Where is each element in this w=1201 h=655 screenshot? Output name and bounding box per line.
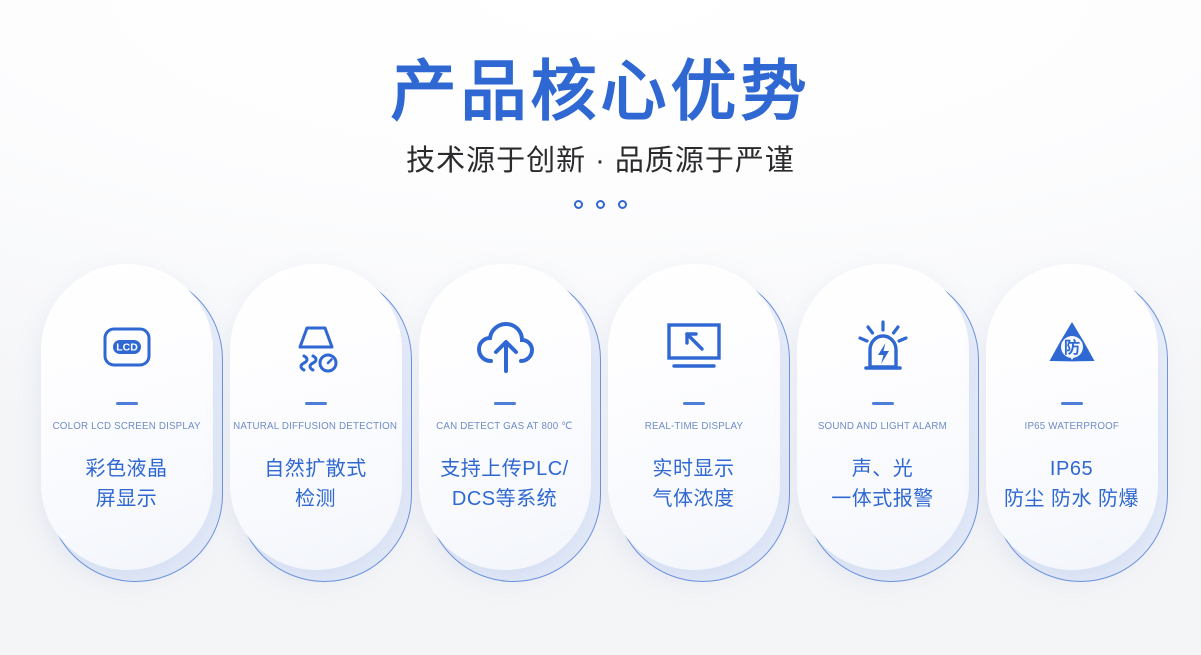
dot-1 — [574, 200, 583, 209]
card-divider — [872, 402, 894, 405]
card-body: LCD COLOR LCD SCREEN DISPLAY 彩色液晶 屏显示 — [41, 264, 213, 570]
page-subtitle: 技术源于创新 · 品质源于严谨 — [0, 127, 1201, 178]
page-root: 产品核心优势 技术源于创新 · 品质源于严谨 LCD COLOR LC — [0, 0, 1201, 655]
card-title-line2: 屏显示 — [86, 484, 168, 514]
feature-card[interactable]: CAN DETECT GAS AT 800 ℃ 支持上传PLC/ DCS等系统 — [419, 264, 594, 576]
lcd-badge-icon: LCD — [99, 316, 155, 378]
card-caption: IP65 WATERPROOF — [1024, 420, 1118, 432]
card-title-line1: 声、光 — [831, 454, 934, 484]
feature-card[interactable]: 防 IP65 WATERPROOF IP65 防尘 防水 防爆 — [986, 264, 1161, 576]
card-caption: REAL-TIME DISPLAY — [644, 420, 742, 432]
card-body: 防 IP65 WATERPROOF IP65 防尘 防水 防爆 — [986, 264, 1158, 570]
card-divider — [116, 402, 138, 405]
card-divider — [305, 402, 327, 405]
card-title-line1: IP65 — [1004, 454, 1139, 484]
card-body: NATURAL DIFFUSION DETECTION 自然扩散式 检测 — [230, 264, 402, 570]
card-title: IP65 防尘 防水 防爆 — [1004, 454, 1139, 514]
card-title: 实时显示 气体浓度 — [653, 454, 735, 514]
page-header: 产品核心优势 技术源于创新 · 品质源于严谨 — [0, 0, 1201, 209]
card-caption: CAN DETECT GAS AT 800 ℃ — [436, 420, 572, 432]
card-divider — [683, 402, 705, 405]
card-body: REAL-TIME DISPLAY 实时显示 气体浓度 — [608, 264, 780, 570]
page-title: 产品核心优势 — [0, 0, 1201, 127]
svg-text:LCD: LCD — [116, 342, 138, 354]
decorative-dots — [0, 200, 1201, 209]
dot-2 — [596, 200, 605, 209]
natural-diffusion-icon — [287, 316, 345, 378]
card-title: 自然扩散式 检测 — [264, 454, 367, 514]
card-body: SOUND AND LIGHT ALARM 声、光 一体式报警 — [797, 264, 969, 570]
card-title-line1: 实时显示 — [653, 454, 735, 484]
card-title-line2: 一体式报警 — [831, 484, 934, 514]
alarm-siren-icon — [854, 316, 912, 378]
card-title-line2: DCS等系统 — [440, 484, 568, 514]
card-body: CAN DETECT GAS AT 800 ℃ 支持上传PLC/ DCS等系统 — [419, 264, 591, 570]
card-caption: SOUND AND LIGHT ALARM — [818, 420, 947, 432]
card-title-line2: 检测 — [264, 484, 367, 514]
card-title: 声、光 一体式报警 — [831, 454, 934, 514]
card-title-line1: 自然扩散式 — [264, 454, 367, 484]
feature-card-list: LCD COLOR LCD SCREEN DISPLAY 彩色液晶 屏显示 — [0, 264, 1201, 576]
card-title: 支持上传PLC/ DCS等系统 — [440, 454, 568, 514]
dot-3 — [618, 200, 627, 209]
feature-card[interactable]: LCD COLOR LCD SCREEN DISPLAY 彩色液晶 屏显示 — [41, 264, 216, 576]
monitor-arrow-icon — [664, 316, 724, 378]
card-title-line1: 支持上传PLC/ — [440, 454, 568, 484]
feature-card[interactable]: SOUND AND LIGHT ALARM 声、光 一体式报警 — [797, 264, 972, 576]
card-title: 彩色液晶 屏显示 — [86, 454, 168, 514]
card-title-line2: 气体浓度 — [653, 484, 735, 514]
cloud-upload-icon — [475, 316, 535, 378]
svg-text:防: 防 — [1063, 338, 1079, 357]
card-caption: NATURAL DIFFUSION DETECTION — [234, 420, 398, 432]
card-title-line1: 彩色液晶 — [86, 454, 168, 484]
card-divider — [494, 402, 516, 405]
card-caption: COLOR LCD SCREEN DISPLAY — [52, 420, 200, 432]
recycle-protect-icon: 防 — [1041, 316, 1103, 378]
card-title-line2: 防尘 防水 防爆 — [1004, 484, 1139, 514]
feature-card[interactable]: NATURAL DIFFUSION DETECTION 自然扩散式 检测 — [230, 264, 405, 576]
card-divider — [1061, 402, 1083, 405]
feature-card[interactable]: REAL-TIME DISPLAY 实时显示 气体浓度 — [608, 264, 783, 576]
